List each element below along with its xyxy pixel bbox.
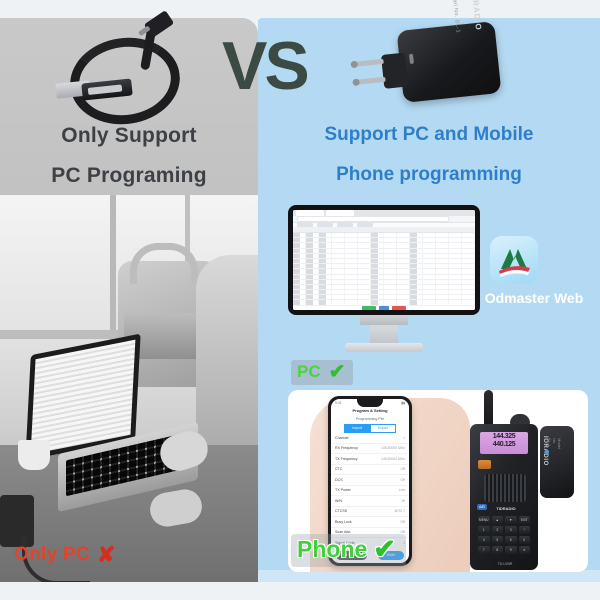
- adapter-model-label: Model No. BL-1: [450, 0, 461, 33]
- table-cell[interactable]: [449, 295, 462, 299]
- radio-key[interactable]: EXIT: [519, 516, 531, 524]
- table-cell[interactable]: [306, 275, 319, 279]
- table-cell[interactable]: [345, 285, 358, 289]
- channel-table[interactable]: [293, 227, 475, 306]
- table-cell[interactable]: [306, 259, 319, 263]
- table-cell[interactable]: [371, 275, 384, 279]
- left-headline-line2: PC Programing: [0, 164, 258, 188]
- table-cell[interactable]: [384, 300, 397, 304]
- table-cell[interactable]: [384, 275, 397, 279]
- odmaster-web-label: Odmaster Web: [470, 290, 598, 306]
- radio-ptt-button[interactable]: [478, 460, 491, 469]
- table-cell[interactable]: [449, 290, 462, 294]
- radio-key[interactable]: 1: [478, 526, 490, 534]
- table-cell[interactable]: [397, 259, 410, 263]
- list-item-value: 1: [403, 436, 405, 440]
- table-cell[interactable]: [423, 280, 436, 284]
- table-cell[interactable]: [319, 249, 332, 253]
- table-cell[interactable]: [332, 275, 345, 279]
- table-cell[interactable]: [345, 254, 358, 258]
- table-cell[interactable]: [436, 285, 449, 289]
- table-cell[interactable]: [462, 259, 475, 263]
- list-item-value: 8070.7: [395, 509, 405, 513]
- radio-key[interactable]: 5: [492, 536, 504, 544]
- table-cell[interactable]: [345, 300, 358, 304]
- read-button[interactable]: [362, 306, 376, 310]
- table-cell[interactable]: [306, 243, 319, 247]
- table-cell[interactable]: [449, 233, 462, 237]
- radio-key[interactable]: 9: [505, 546, 517, 554]
- table-cell[interactable]: [449, 238, 462, 242]
- table-cell[interactable]: [397, 243, 410, 247]
- phone-badge-label: Phone: [297, 536, 367, 563]
- table-cell[interactable]: [358, 269, 371, 273]
- cross-icon: ✘: [97, 542, 116, 568]
- table-cell[interactable]: [384, 249, 397, 253]
- table-cell[interactable]: [436, 249, 449, 253]
- table-cell[interactable]: [306, 233, 319, 237]
- only-pc-badge: Only PC ✘: [14, 542, 116, 568]
- table-cell[interactable]: [449, 275, 462, 279]
- table-cell[interactable]: [345, 259, 358, 263]
- table-cell[interactable]: [410, 285, 423, 289]
- table-cell[interactable]: [345, 264, 358, 268]
- table-cell[interactable]: [371, 269, 384, 273]
- table-cell[interactable]: [410, 290, 423, 294]
- radio-key[interactable]: 0: [519, 536, 531, 544]
- radio-key[interactable]: 7: [478, 546, 490, 554]
- table-cell[interactable]: [358, 290, 371, 294]
- table-cell[interactable]: [319, 254, 332, 258]
- table-cell[interactable]: [371, 290, 384, 294]
- table-cell[interactable]: [319, 269, 332, 273]
- table-cell[interactable]: [462, 249, 475, 253]
- radio-key[interactable]: 6: [505, 536, 517, 544]
- table-cell[interactable]: [423, 295, 436, 299]
- table-cell[interactable]: [423, 275, 436, 279]
- table-cell[interactable]: [423, 238, 436, 242]
- list-item-label: DCS: [335, 478, 343, 482]
- table-cell[interactable]: [410, 264, 423, 268]
- table-cell[interactable]: [319, 295, 332, 299]
- radio-body: 144.325 440.125 A/B TIDRADIO MENU▲▼EXIT1…: [470, 424, 538, 570]
- adapter-neck: [381, 53, 408, 89]
- table-cell[interactable]: [423, 290, 436, 294]
- table-cell[interactable]: [384, 280, 397, 284]
- table-cell[interactable]: [384, 264, 397, 268]
- info-button[interactable]: [379, 306, 389, 310]
- table-cell[interactable]: [436, 254, 449, 258]
- table-cell[interactable]: [384, 295, 397, 299]
- radio-key[interactable]: *: [519, 526, 531, 534]
- table-cell[interactable]: [358, 238, 371, 242]
- table-cell[interactable]: [410, 269, 423, 273]
- table-cell[interactable]: [410, 280, 423, 284]
- table-cell[interactable]: [410, 243, 423, 247]
- radio-key[interactable]: 2: [492, 526, 504, 534]
- list-item-value: Off: [401, 478, 405, 482]
- table-cell[interactable]: [319, 280, 332, 284]
- comparison-infographic: Only Support PC Programing VS IORADIO Mo…: [0, 0, 600, 600]
- table-cell[interactable]: [462, 269, 475, 273]
- table-cell[interactable]: [436, 238, 449, 242]
- table-cell[interactable]: [423, 233, 436, 237]
- radio-brand-label: TIDRADIO: [484, 506, 528, 511]
- handheld-radio: 144.325 440.125 A/B TIDRADIO MENU▲▼EXIT1…: [466, 402, 542, 570]
- table-cell[interactable]: [397, 275, 410, 279]
- status-icons: ▮▮: [401, 401, 405, 405]
- table-action-bar[interactable]: [293, 306, 475, 310]
- monitor-stand: [370, 325, 398, 345]
- table-cell[interactable]: [436, 280, 449, 284]
- radio-model-label: TD-UV5R: [484, 562, 526, 566]
- table-cell[interactable]: [293, 233, 306, 237]
- list-item-label: TX Frequency: [335, 457, 358, 461]
- list-item[interactable]: TX PowerLow: [331, 486, 409, 497]
- table-cell[interactable]: [293, 300, 306, 304]
- table-cell[interactable]: [332, 300, 345, 304]
- table-cell[interactable]: [306, 269, 319, 273]
- table-cell[interactable]: [397, 233, 410, 237]
- table-cell[interactable]: [397, 290, 410, 294]
- table-cell[interactable]: [423, 259, 436, 263]
- url-input[interactable]: [297, 216, 449, 222]
- list-item-label: TX Power: [335, 488, 351, 492]
- list-item-label: W/N: [335, 499, 342, 503]
- table-cell[interactable]: [371, 259, 384, 263]
- table-cell[interactable]: [306, 285, 319, 289]
- table-cell[interactable]: [410, 259, 423, 263]
- list-item[interactable]: DCSOff: [331, 475, 409, 486]
- table-cell[interactable]: [293, 269, 306, 273]
- table-cell[interactable]: [384, 254, 397, 258]
- table-cell[interactable]: [384, 269, 397, 273]
- table-cell[interactable]: [449, 269, 462, 273]
- table-cell[interactable]: [358, 295, 371, 299]
- table-cell[interactable]: [423, 269, 436, 273]
- list-item[interactable]: Busy LockOff: [331, 517, 409, 528]
- table-cell[interactable]: [462, 254, 475, 258]
- list-item-value: 145.50000 MHz: [381, 446, 405, 450]
- table-cell[interactable]: [462, 275, 475, 279]
- segment-export[interactable]: Export: [370, 424, 396, 433]
- table-cell[interactable]: [384, 290, 397, 294]
- table-cell[interactable]: [358, 300, 371, 304]
- table-cell[interactable]: [332, 254, 345, 258]
- table-cell[interactable]: [423, 249, 436, 253]
- table-cell[interactable]: [371, 300, 384, 304]
- radio-freq-top: 144.325: [482, 433, 526, 441]
- table-cell[interactable]: [436, 269, 449, 273]
- desktop-monitor: [288, 205, 480, 355]
- table-cell[interactable]: [332, 290, 345, 294]
- table-cell[interactable]: [319, 238, 332, 242]
- table-cell[interactable]: [358, 243, 371, 247]
- table-cell[interactable]: [345, 275, 358, 279]
- app-subtitle: Programming File: [331, 415, 409, 423]
- table-cell[interactable]: [332, 295, 345, 299]
- table-cell[interactable]: [371, 238, 384, 242]
- adapter-brand-label: IORADIO: [470, 0, 483, 31]
- table-cell[interactable]: [345, 249, 358, 253]
- table-cell[interactable]: [397, 300, 410, 304]
- list-item-label: CTC: [335, 467, 342, 471]
- table-cell[interactable]: [293, 259, 306, 263]
- radio-freq-bottom: 440.125: [482, 441, 526, 449]
- table-cell[interactable]: [449, 280, 462, 284]
- table-cell[interactable]: [397, 285, 410, 289]
- table-cell[interactable]: [462, 285, 475, 289]
- radio-lcd-display: 144.325 440.125: [480, 432, 528, 454]
- table-cell[interactable]: [293, 275, 306, 279]
- table-cell[interactable]: [319, 285, 332, 289]
- table-cell[interactable]: [293, 280, 306, 284]
- right-headline-line2: Phone programming: [258, 164, 600, 186]
- table-cell[interactable]: [371, 254, 384, 258]
- radio-key[interactable]: #: [519, 546, 531, 554]
- table-cell[interactable]: [410, 295, 423, 299]
- table-cell[interactable]: [462, 238, 475, 242]
- table-cell[interactable]: [358, 264, 371, 268]
- table-cell[interactable]: [410, 238, 423, 242]
- list-item[interactable]: Channel1: [331, 433, 409, 444]
- monitor-neck: [360, 315, 408, 325]
- table-cell[interactable]: [449, 259, 462, 263]
- radio-key[interactable]: ▼: [505, 516, 517, 524]
- table-cell[interactable]: [410, 275, 423, 279]
- table-cell[interactable]: [384, 233, 397, 237]
- table-cell[interactable]: [436, 300, 449, 304]
- table-cell[interactable]: [293, 290, 306, 294]
- table-cell[interactable]: [332, 269, 345, 273]
- table-cell[interactable]: [371, 285, 384, 289]
- pc-supported-badge: PC ✔: [291, 360, 353, 385]
- table-cell[interactable]: [306, 280, 319, 284]
- table-cell[interactable]: [345, 233, 358, 237]
- table-cell[interactable]: [436, 243, 449, 247]
- bl1-adapter-on-radio: IORADIO Model No. BL-1: [540, 426, 574, 498]
- table-cell[interactable]: [345, 290, 358, 294]
- monitor-base: [345, 343, 423, 352]
- table-cell[interactable]: [423, 243, 436, 247]
- table-cell[interactable]: [397, 238, 410, 242]
- table-cell[interactable]: [371, 233, 384, 237]
- list-item-label: Busy Lock: [335, 520, 352, 524]
- table-cell[interactable]: [319, 300, 332, 304]
- table-cell[interactable]: [293, 264, 306, 268]
- write-button[interactable]: [392, 306, 406, 310]
- table-cell[interactable]: [306, 249, 319, 253]
- list-item[interactable]: CTCOff: [331, 465, 409, 476]
- table-cell[interactable]: [358, 259, 371, 263]
- table-cell[interactable]: [449, 254, 462, 258]
- table-cell[interactable]: [345, 243, 358, 247]
- table-cell[interactable]: [319, 275, 332, 279]
- table-cell[interactable]: [449, 300, 462, 304]
- table-cell[interactable]: [397, 264, 410, 268]
- table-cell[interactable]: [345, 280, 358, 284]
- table-cell[interactable]: [306, 254, 319, 258]
- table-cell[interactable]: [371, 280, 384, 284]
- window-frame: [110, 195, 116, 345]
- table-cell[interactable]: [449, 249, 462, 253]
- table-cell[interactable]: [436, 295, 449, 299]
- table-cell[interactable]: [293, 249, 306, 253]
- table-cell[interactable]: [332, 285, 345, 289]
- adapter-bluetooth-led-icon: [545, 450, 549, 454]
- table-cell[interactable]: [397, 269, 410, 273]
- app-title: Program & Setting: [331, 406, 409, 415]
- list-item[interactable]: W/NW: [331, 496, 409, 507]
- segmented-control[interactable]: Import Export: [331, 423, 409, 433]
- table-cell[interactable]: [462, 280, 475, 284]
- table-cell[interactable]: [358, 275, 371, 279]
- table-cell[interactable]: [319, 233, 332, 237]
- table-cell[interactable]: [371, 264, 384, 268]
- table-cell[interactable]: [293, 295, 306, 299]
- table-cell[interactable]: [358, 280, 371, 284]
- list-item-label: RX Frequency: [335, 446, 358, 450]
- table-cell[interactable]: [436, 233, 449, 237]
- table-cell[interactable]: [332, 238, 345, 242]
- table-cell[interactable]: [358, 285, 371, 289]
- table-cell[interactable]: [462, 243, 475, 247]
- table-cell[interactable]: [345, 295, 358, 299]
- table-cell[interactable]: [332, 233, 345, 237]
- browser-urlbar[interactable]: [293, 216, 475, 223]
- phone-supported-badge: Phone ✔: [291, 534, 406, 567]
- table-cell[interactable]: [436, 264, 449, 268]
- table-cell[interactable]: [449, 243, 462, 247]
- table-cell[interactable]: [462, 233, 475, 237]
- table-cell[interactable]: [436, 275, 449, 279]
- table-cell[interactable]: [384, 238, 397, 242]
- usb-programming-cable-image: [52, 26, 212, 118]
- radio-key[interactable]: 8: [492, 546, 504, 554]
- segment-import[interactable]: Import: [344, 424, 370, 433]
- check-icon: ✔: [373, 536, 396, 563]
- radio-key[interactable]: 3: [505, 526, 517, 534]
- right-headline-line1: Support PC and Mobile: [258, 124, 600, 146]
- list-item[interactable]: CTCSS8070.7: [331, 507, 409, 518]
- table-cell[interactable]: [306, 264, 319, 268]
- table-cell[interactable]: [319, 290, 332, 294]
- table-cell[interactable]: [306, 295, 319, 299]
- list-item-value: Off: [401, 520, 405, 524]
- list-item[interactable]: TX Frequency145.50000 MHz: [331, 454, 409, 465]
- table-cell[interactable]: [293, 243, 306, 247]
- table-cell[interactable]: [371, 249, 384, 253]
- table-cell[interactable]: [371, 243, 384, 247]
- odmaster-app-icon[interactable]: [490, 236, 538, 284]
- table-cell[interactable]: [423, 300, 436, 304]
- table-cell[interactable]: [332, 264, 345, 268]
- radio-keypad[interactable]: MENU▲▼EXIT123*4560789#: [478, 516, 530, 554]
- table-cell[interactable]: [423, 285, 436, 289]
- list-item-value: Low: [399, 488, 405, 492]
- table-cell[interactable]: [293, 254, 306, 258]
- list-item[interactable]: RX Frequency145.50000 MHz: [331, 444, 409, 455]
- table-cell[interactable]: [436, 290, 449, 294]
- list-item-label: CTCSS: [335, 509, 347, 513]
- table-cell[interactable]: [332, 280, 345, 284]
- monitor-frame: [288, 205, 480, 315]
- table-cell[interactable]: [462, 264, 475, 268]
- table-cell[interactable]: [384, 243, 397, 247]
- radio-key[interactable]: 4: [478, 536, 490, 544]
- bl1-adapter-image: IORADIO Model No. BL-1: [397, 21, 502, 103]
- table-cell[interactable]: [410, 300, 423, 304]
- table-cell[interactable]: [449, 264, 462, 268]
- left-headline-line1: Only Support: [0, 124, 258, 148]
- list-item-label: Channel: [335, 436, 348, 440]
- table-cell[interactable]: [332, 259, 345, 263]
- table-cell[interactable]: [449, 285, 462, 289]
- table-cell[interactable]: [397, 295, 410, 299]
- table-cell[interactable]: [345, 269, 358, 273]
- vs-label: VS: [222, 32, 307, 100]
- table-cell[interactable]: [293, 238, 306, 242]
- table-cell[interactable]: [410, 233, 423, 237]
- table-cell[interactable]: [306, 300, 319, 304]
- table-cell[interactable]: [436, 259, 449, 263]
- table-cell[interactable]: [358, 254, 371, 258]
- table-cell[interactable]: [306, 290, 319, 294]
- table-cell[interactable]: [319, 243, 332, 247]
- table-cell[interactable]: [384, 285, 397, 289]
- table-cell[interactable]: [345, 238, 358, 242]
- adapter-model-label-small: Model No. BL-1: [547, 438, 562, 450]
- radio-key[interactable]: ▲: [492, 516, 504, 524]
- table-cell[interactable]: [410, 254, 423, 258]
- only-pc-label: Only PC: [14, 544, 90, 566]
- table-cell[interactable]: [319, 264, 332, 268]
- list-item-value: W: [402, 499, 405, 503]
- status-time: 9:41: [335, 401, 342, 405]
- adapter-led-icon: [409, 54, 414, 64]
- table-cell[interactable]: [384, 259, 397, 263]
- table-cell[interactable]: [410, 249, 423, 253]
- coffee-cup: [18, 440, 50, 470]
- radio-speaker-grille: [484, 474, 526, 502]
- radio-key[interactable]: MENU: [478, 516, 490, 524]
- table-cell[interactable]: [319, 259, 332, 263]
- table-cell[interactable]: [423, 254, 436, 258]
- table-cell[interactable]: [371, 295, 384, 299]
- pc-badge-label: PC: [297, 362, 321, 382]
- table-cell[interactable]: [397, 280, 410, 284]
- table-cell[interactable]: [332, 243, 345, 247]
- table-cell[interactable]: [332, 249, 345, 253]
- table-cell[interactable]: [293, 285, 306, 289]
- table-cell[interactable]: [358, 233, 371, 237]
- phone-notch: [357, 399, 383, 407]
- table-cell[interactable]: [423, 264, 436, 268]
- table-cell[interactable]: [358, 249, 371, 253]
- table-cell[interactable]: [397, 249, 410, 253]
- list-item-value: Off: [401, 467, 405, 471]
- check-icon: ✔: [329, 362, 346, 382]
- list-item-value: 145.50000 MHz: [381, 457, 405, 461]
- laptop-scene-photo: [0, 195, 258, 582]
- table-cell[interactable]: [306, 238, 319, 242]
- settings-list[interactable]: Channel1RX Frequency145.50000 MHzTX Freq…: [331, 433, 409, 547]
- table-cell[interactable]: [397, 254, 410, 258]
- monitor-screen: [293, 210, 475, 310]
